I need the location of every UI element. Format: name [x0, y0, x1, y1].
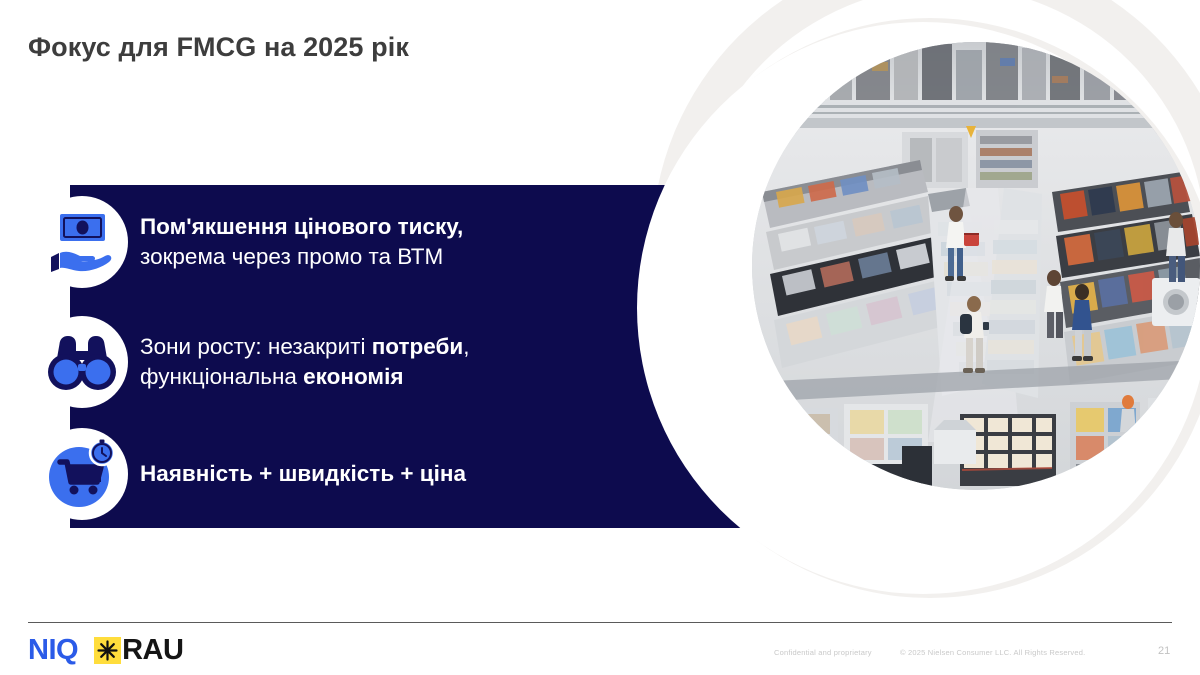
bullet-row-pricing: Пом'якшення цінового тиску, зокрема чере…: [36, 196, 463, 288]
copyright-note: © 2025 Nielsen Consumer LLC. All Rights …: [900, 648, 1085, 657]
bullet-line-1: Зони росту: незакриті потреби,: [140, 332, 469, 362]
page-number: 21: [1158, 645, 1170, 657]
confidential-note: Confidential and proprietary: [774, 648, 872, 657]
bullet-text-availability: Наявність + швидкість + ціна: [140, 459, 466, 489]
bullet-line-2: функціональна економія: [140, 362, 469, 392]
bullet-text-pricing: Пом'якшення цінового тиску, зокрема чере…: [140, 212, 463, 273]
supermarket-photo: [752, 42, 1200, 490]
page-title: Фокус для FMCG на 2025 рік: [28, 32, 409, 63]
bullet-row-growth: Зони росту: незакриті потреби, функціона…: [36, 316, 469, 408]
footer-divider: [28, 622, 1172, 623]
hand-holding-money-icon: [36, 196, 128, 288]
brand-logos: NIQ RAU: [28, 636, 183, 665]
binoculars-icon: [36, 316, 128, 408]
rau-logo: RAU: [94, 636, 183, 665]
niq-logo: NIQ: [28, 636, 78, 665]
bullet-text-growth: Зони росту: незакриті потреби, функціона…: [140, 332, 469, 393]
bullet-line-2: зокрема через промо та ВТМ: [140, 242, 463, 272]
bullet-row-availability: Наявність + швидкість + ціна: [36, 428, 466, 520]
rau-star-icon: [94, 637, 121, 664]
shopping-cart-timer-icon: [36, 428, 128, 520]
bullet-line-1: Наявність + швидкість + ціна: [140, 459, 466, 489]
slide-canvas: Фокус для FMCG на 2025 рік Пом'якшення ц…: [0, 0, 1200, 675]
rau-wordmark: RAU: [122, 636, 183, 665]
bullet-line-1: Пом'якшення цінового тиску,: [140, 212, 463, 242]
